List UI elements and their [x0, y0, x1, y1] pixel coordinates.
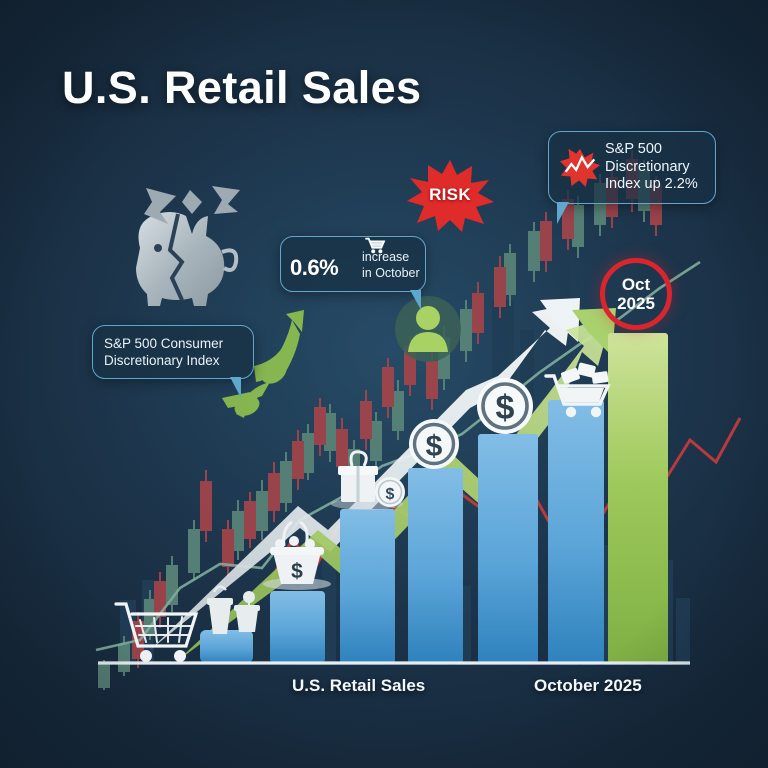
increase-line-1: increase [362, 250, 409, 264]
callout-tail [230, 377, 241, 398]
callout-retail-increase[interactable]: 0.6% increase in October [280, 236, 426, 292]
date-badge-year: 2025 [617, 294, 655, 313]
callout-line-1: S&P 500 [605, 141, 706, 159]
risk-label: RISK [404, 158, 496, 232]
background-chart-layer: $ $ $ $ [0, 0, 768, 768]
axis-label-right: October 2025 [534, 676, 642, 696]
callout-line-2: Discretionary [605, 159, 706, 177]
callout-sp500-discretionary-up[interactable]: S&P 500 Discretionary Index up 2.2% [548, 131, 716, 204]
callout-line-2: Discretionary Index [104, 352, 242, 369]
svg-text:$: $ [291, 560, 303, 583]
callout-sp500-consumer-index[interactable]: S&P 500 Consumer Discretionary Index [92, 325, 254, 379]
infographic-canvas: $ $ $ $ [0, 0, 768, 768]
bar-5 [478, 434, 538, 663]
svg-text:$: $ [426, 430, 443, 463]
risk-badge[interactable]: RISK [404, 158, 496, 232]
consumer-avatar-icon [395, 296, 461, 362]
dollar-coin-icon: $ [477, 378, 533, 434]
callout-line-3: Index up 2.2% [605, 176, 706, 194]
red-burst-chart-icon [559, 146, 601, 188]
bar-4 [408, 468, 463, 663]
increase-line-2: in October [362, 266, 420, 280]
callout-tail [557, 202, 569, 224]
page-title: U.S. Retail Sales [62, 62, 421, 114]
callout-tail [410, 290, 421, 310]
bar-6 [548, 400, 604, 663]
date-badge-month: Oct [622, 275, 650, 294]
bar-1 [200, 630, 253, 663]
date-badge[interactable]: Oct 2025 [600, 258, 672, 330]
bar-2 [270, 591, 325, 663]
svg-text:$: $ [496, 389, 515, 427]
bar-7-highlight [608, 333, 668, 663]
increase-value: 0.6% [290, 255, 338, 281]
svg-text:$: $ [386, 486, 395, 503]
axis-label-left: U.S. Retail Sales [292, 676, 425, 696]
callout-line-1: S&P 500 Consumer [104, 335, 242, 352]
dollar-coin-icon: $ [409, 419, 459, 469]
bar-3 [340, 509, 395, 663]
